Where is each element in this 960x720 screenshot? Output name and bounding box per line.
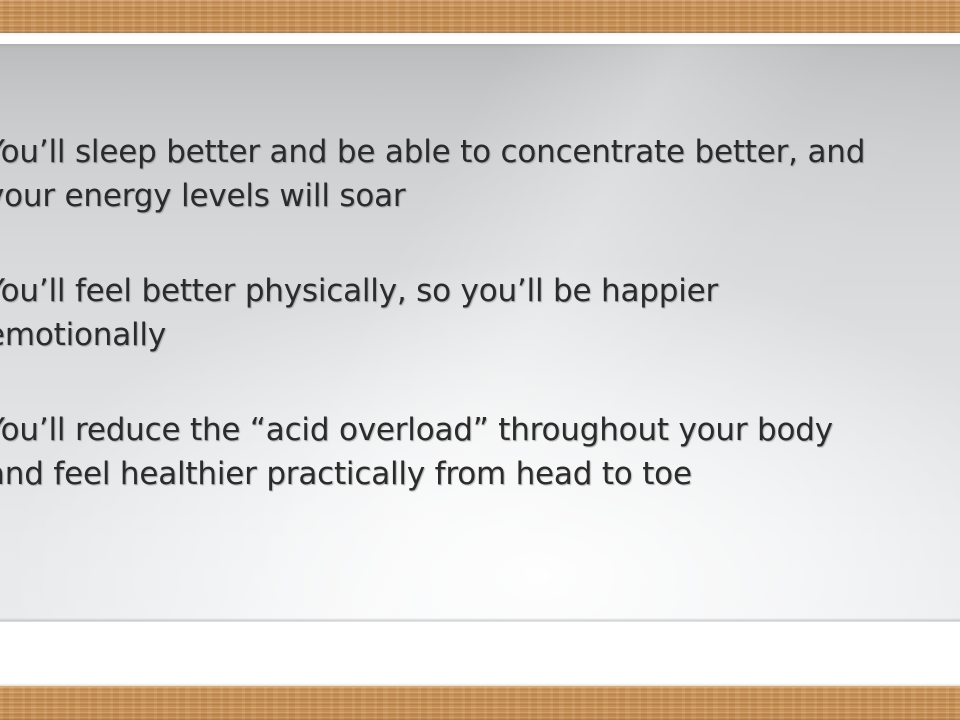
wood-border-top: [0, 0, 960, 33]
wood-border-top-highlight: [0, 33, 960, 36]
slide-bullet-list: You’ll sleep better and be able to conce…: [0, 130, 960, 496]
bullet-line: You’ll sleep better and be able to conce…: [0, 130, 960, 174]
list-item: You’ll feel better physically, so you’ll…: [0, 269, 960, 357]
list-item: You’ll reduce the “acid overload” throug…: [0, 408, 960, 496]
slide-top-shading: [0, 44, 960, 48]
bullet-line: emotionally: [0, 313, 960, 357]
bullet-line: You’ll reduce the “acid overload” throug…: [0, 408, 960, 452]
video-frame: You’ll sleep better and be able to conce…: [0, 0, 960, 720]
bullet-line: You’ll feel better physically, so you’ll…: [0, 269, 960, 313]
list-item: You’ll sleep better and be able to conce…: [0, 130, 960, 218]
slide-bottom-edge: [0, 618, 960, 622]
wood-border-bottom: [0, 687, 960, 720]
bullet-line: your energy levels will soar: [0, 174, 960, 218]
bullet-line: and feel healthier practically from head…: [0, 452, 960, 496]
presentation-slide: You’ll sleep better and be able to conce…: [0, 44, 960, 622]
